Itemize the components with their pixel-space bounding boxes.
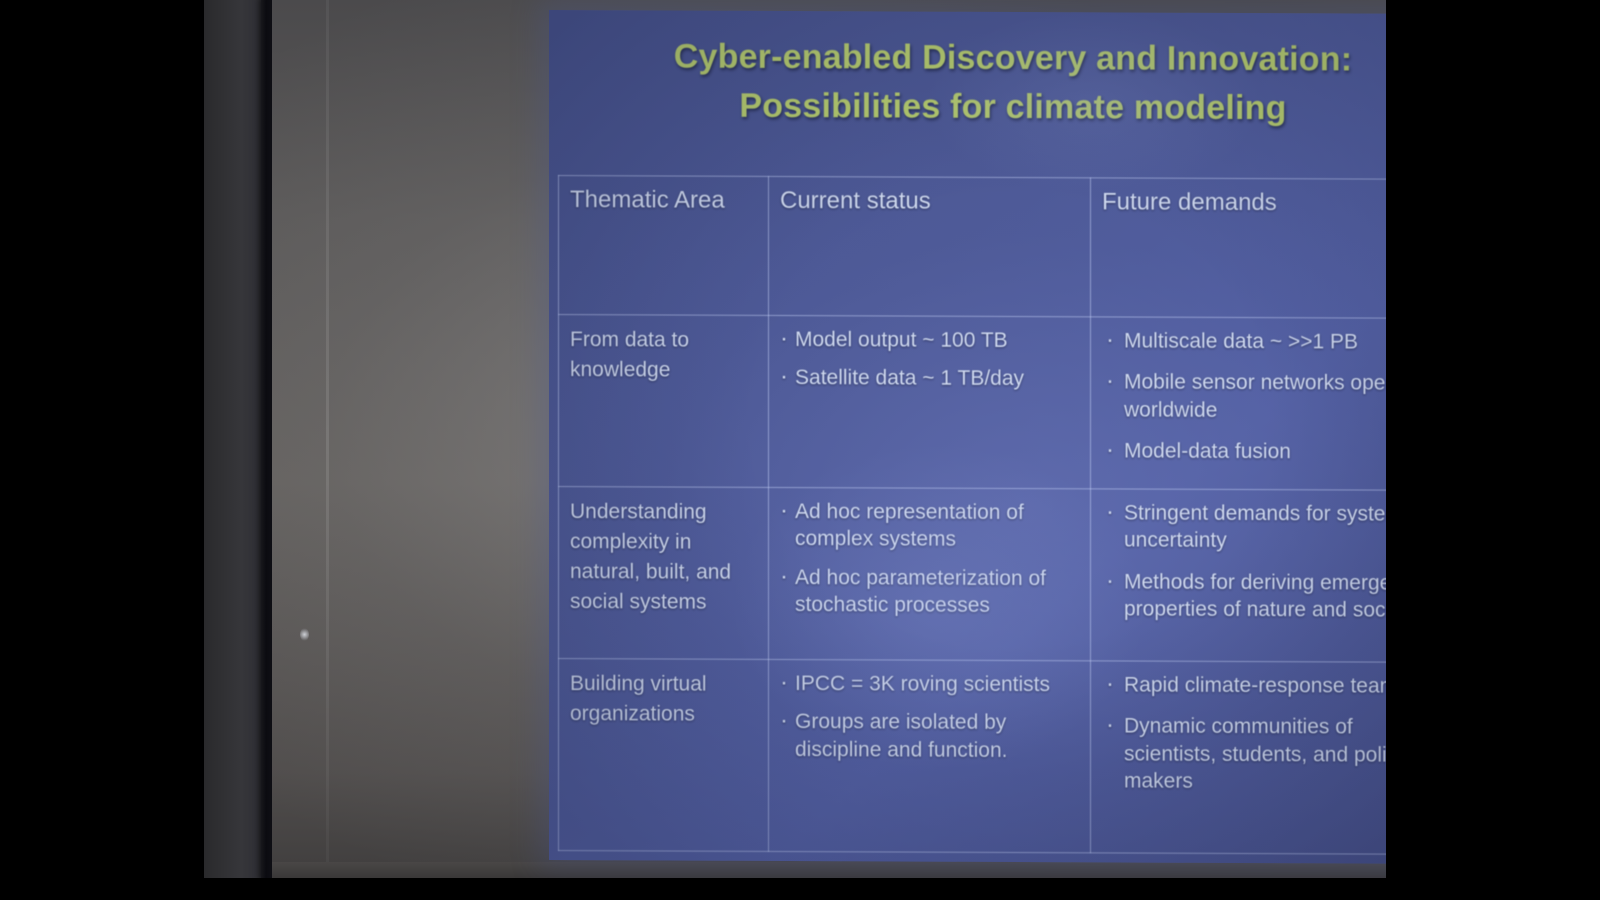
slide-inner: Cyber-enabled Discovery and Innovation: … (549, 10, 1386, 864)
wall-dark-left-panel (204, 0, 266, 878)
bullet-list: Rapid climate-response teams Dynamic com… (1102, 672, 1386, 797)
list-item: Mobile sensor networks operating worldwi… (1102, 369, 1386, 425)
list-item: Ad hoc parameterization of stochastic pr… (780, 564, 1080, 620)
list-item: Stringent demands for systemic uncertain… (1102, 500, 1386, 556)
list-item: Satellite data ~ 1 TB/day (780, 364, 1080, 393)
cell-future-demands: Rapid climate-response teams Dynamic com… (1091, 661, 1387, 855)
projected-slide: Cyber-enabled Discovery and Innovation: … (549, 10, 1386, 864)
bottom-letterbox (0, 878, 1600, 900)
cell-future-demands: Stringent demands for systemic uncertain… (1091, 489, 1387, 663)
left-letterbox (0, 0, 204, 900)
column-header-thematic-area: Thematic Area (559, 176, 769, 316)
floor-strip (272, 862, 1386, 878)
cell-current-status: Model output ~ 100 TB Satellite data ~ 1… (769, 315, 1091, 489)
cell-current-status: Ad hoc representation of complex systems… (769, 488, 1091, 661)
slide-title-line-2: Possibilities for climate modeling (579, 81, 1386, 134)
list-item: Groups are isolated by discipline and fu… (780, 708, 1080, 764)
video-frame: Cyber-enabled Discovery and Innovation: … (204, 0, 1386, 878)
list-item: Dynamic communities of scientists, stude… (1102, 713, 1386, 796)
cell-future-demands: Multiscale data ~ >>1 PB Mobile sensor n… (1091, 317, 1387, 491)
list-item: Model-data fusion (1102, 437, 1386, 466)
cdi-comparison-table: Thematic Area Current status Future dema… (558, 175, 1386, 855)
table-header: Thematic Area Current status Future dema… (559, 176, 1387, 319)
table-row: Building virtual organizations IPCC = 3K… (559, 659, 1387, 855)
table-header-row: Thematic Area Current status Future dema… (559, 176, 1387, 319)
table-row: Understanding complexity in natural, bui… (559, 487, 1387, 663)
slide-title-line-1: Cyber-enabled Discovery and Innovation: (579, 32, 1386, 85)
bullet-list: Ad hoc representation of complex systems… (780, 498, 1080, 619)
cell-current-status: IPCC = 3K roving scientists Groups are i… (769, 660, 1091, 853)
wall-seam (326, 0, 329, 878)
column-header-current-status: Current status (769, 176, 1091, 316)
right-letterbox (1386, 0, 1600, 900)
list-item: Ad hoc representation of complex systems (780, 498, 1080, 554)
bullet-list: Model output ~ 100 TB Satellite data ~ 1… (780, 326, 1080, 393)
table-row: From data to knowledge Model output ~ 10… (559, 315, 1387, 491)
bullet-list: IPCC = 3K roving scientists Groups are i… (780, 670, 1080, 764)
list-item: IPCC = 3K roving scientists (780, 670, 1080, 699)
cell-thematic-area: Building virtual organizations (559, 659, 769, 852)
bullet-list: Stringent demands for systemic uncertain… (1102, 500, 1386, 625)
cell-thematic-area: From data to knowledge (559, 315, 769, 488)
lecture-room-photo: Cyber-enabled Discovery and Innovation: … (0, 0, 1600, 900)
list-item: Model output ~ 100 TB (780, 326, 1080, 355)
cell-thematic-area: Understanding complexity in natural, bui… (559, 487, 769, 660)
slide-content: Cyber-enabled Discovery and Innovation: … (549, 10, 1386, 864)
bullet-list: Multiscale data ~ >>1 PB Mobile sensor n… (1102, 327, 1386, 466)
list-item: Multiscale data ~ >>1 PB (1102, 327, 1386, 356)
list-item: Rapid climate-response teams (1102, 672, 1386, 701)
table-body: From data to knowledge Model output ~ 10… (559, 315, 1387, 855)
wall-speck-artifact (300, 628, 309, 641)
list-item: Methods for deriving emergent properties… (1102, 568, 1386, 624)
slide-title: Cyber-enabled Discovery and Innovation: … (579, 32, 1386, 134)
column-header-future-demands: Future demands (1091, 178, 1387, 319)
